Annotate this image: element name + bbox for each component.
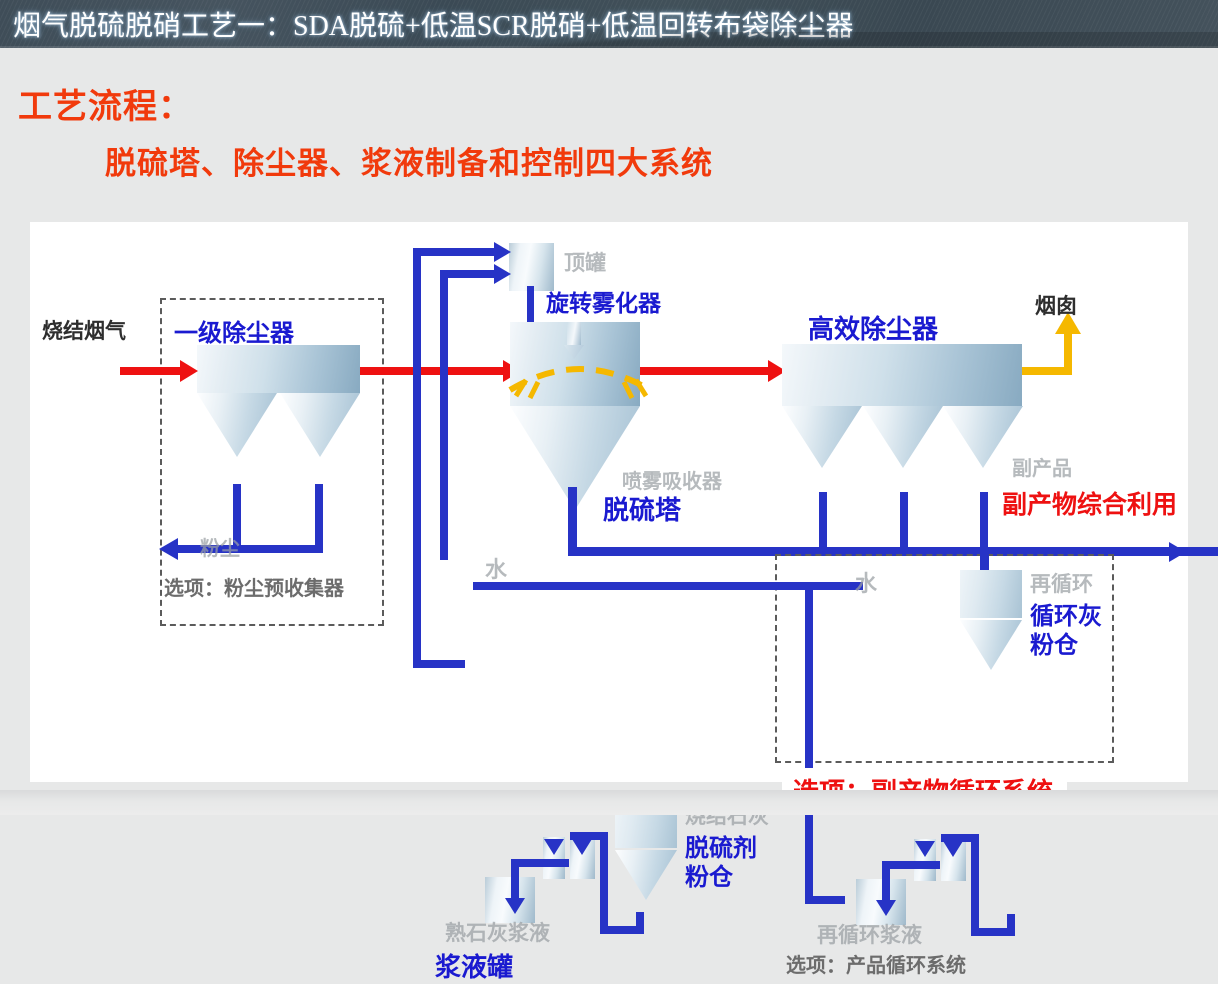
slurry-water-down-left [413, 582, 421, 668]
desulfurizer-silo-label-line2: 粉仓 [685, 857, 733, 892]
product-recycle-option-label: 选项：产品循环系统 [786, 949, 966, 978]
slide-title-bar: 烟气脱硫脱硝工艺一：SDA脱硫+低温SCR脱硝+低温回转布袋除尘器 [0, 0, 1218, 48]
dust-drop-pipe-2 [315, 484, 323, 552]
byproduct-utilization-label: 副产物综合利用 [1002, 485, 1177, 521]
recycle-transfer-pipe-top [882, 861, 940, 869]
recycle-water-elbow-top [775, 582, 813, 590]
desulfurization-tower-label: 脱硫塔 [603, 490, 681, 527]
top-tank-label: 顶罐 [564, 247, 606, 277]
flue-gas-inlet-arrowhead [180, 360, 198, 382]
stack-riser-line [1064, 332, 1072, 375]
slurry-loop-riser [600, 832, 608, 934]
byproduct-drop-pipe-3 [980, 492, 988, 554]
slurry-loop-top [570, 832, 608, 840]
slurry-transfer-pipe-top [511, 859, 569, 867]
slurry-feed-arrow-a [544, 839, 564, 855]
recycle-water-label: 水 [855, 566, 877, 598]
page-heading-secondary: 脱硫塔、除尘器、浆液制备和控制四大系统 [105, 138, 713, 183]
slurry-feed-arrow-b [572, 839, 592, 855]
dust-label: 粉尘 [200, 532, 240, 561]
tower-feed-arrow-inner [494, 264, 511, 284]
slurry-tank-label: 浆液罐 [435, 947, 513, 984]
process-flow-diagram: 烧结烟气 一级除尘器 粉尘 选项：粉尘预收集器 顶罐 旋转雾化器 喷雾吸收器 [30, 222, 1188, 782]
byproduct-drop-pipe-1 [819, 492, 827, 554]
recycle-feed-arrow-b [943, 841, 963, 857]
high-efficiency-collector-label: 高效除尘器 [808, 309, 938, 346]
recycle-loop-riser-right [1007, 914, 1015, 936]
tower-feed-riser-inner [440, 270, 448, 560]
tower-feed-arrow-outer [494, 242, 511, 262]
recycle-water-elbow-bottom [805, 896, 845, 904]
slide-title: 烟气脱硫脱硝工艺一：SDA脱硫+低温SCR脱硝+低温回转布袋除尘器 [13, 4, 854, 44]
spray-pattern-icon [500, 342, 660, 402]
dust-outlet-arrowhead [159, 538, 178, 560]
recycle-loop-riser [971, 834, 979, 936]
high-efficiency-hopper-3 [943, 406, 1023, 468]
high-efficiency-hopper-2 [863, 406, 943, 468]
flue-gas-line-to-tower [360, 367, 505, 375]
primary-collector-body [197, 345, 360, 394]
flue-gas-line-to-collector [640, 367, 770, 375]
tower-feed-line-outer [413, 248, 497, 256]
byproduct-drop-pipe-2 [900, 492, 908, 554]
page-heading-primary: 工艺流程： [18, 79, 193, 128]
slurry-transfer-arrowhead [505, 898, 525, 914]
slaked-lime-slurry-label: 熟石灰浆液 [445, 917, 550, 947]
recycle-ash-silo-body [960, 570, 1022, 618]
high-efficiency-collector-body [782, 344, 1022, 407]
recirculation-faded-label: 再循环 [1030, 568, 1093, 598]
recycle-water-riser [805, 582, 813, 904]
high-efficiency-hopper-1 [782, 406, 862, 468]
rotary-atomizer-label: 旋转雾化器 [546, 284, 661, 318]
inlet-label: 烧结烟气 [42, 315, 126, 345]
dust-precollector-option-label: 选项：粉尘预收集器 [164, 572, 344, 601]
tower-bottom-drop-pipe [568, 487, 577, 553]
flue-gas-inlet-line [120, 367, 182, 375]
tower-feed-line-inner [440, 270, 497, 278]
recycle-transfer-arrowhead [876, 900, 896, 916]
chimney-label: 烟囱 [1035, 290, 1077, 320]
byproduct-faded-label: 副产品 [1012, 452, 1072, 481]
recycle-feed-arrow-a [915, 841, 935, 857]
recirculating-slurry-label: 再循环浆液 [817, 919, 922, 949]
slurry-water-elbow-left [413, 660, 465, 668]
desulfurizer-silo-cone [615, 850, 677, 900]
recycle-loop-top [941, 834, 979, 842]
byproduct-header-arrowhead [1169, 542, 1186, 562]
page-bottom-strip [0, 790, 1218, 815]
recycle-ash-silo-label-line2: 粉仓 [1030, 625, 1078, 660]
slurry-water-label: 水 [485, 552, 507, 584]
primary-collector-label: 一级除尘器 [174, 313, 294, 348]
slurry-loop-riser-right [636, 912, 644, 934]
